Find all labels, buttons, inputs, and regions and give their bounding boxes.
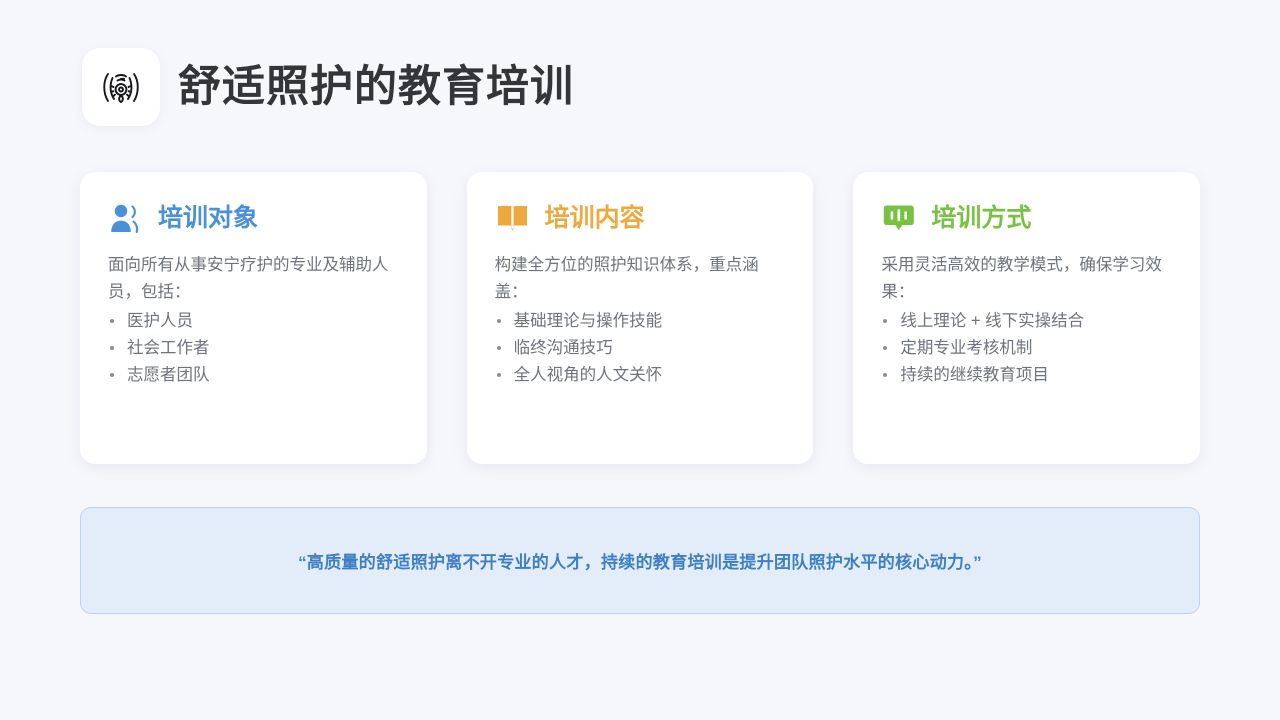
list-item: 持续的继续教育项目 <box>881 362 1172 389</box>
card-header: 培训内容 <box>495 202 786 234</box>
list-item: 定期专业考核机制 <box>881 335 1172 362</box>
quote-text: “高质量的舒适照护离不开专业的人才，持续的教育培训是提升团队照护水平的核心动力。… <box>258 548 1022 573</box>
list-item: 基础理论与操作技能 <box>495 308 786 335</box>
card-intro: 构建全方位的照护知识体系，重点涵盖： <box>495 252 786 305</box>
card-bullet-list: 线上理论 + 线下实操结合 定期专业考核机制 持续的继续教育项目 <box>881 308 1172 388</box>
card-intro: 面向所有从事安宁疗护的专业及辅助人员，包括： <box>108 252 399 305</box>
list-item: 社会工作者 <box>108 335 399 362</box>
list-item: 志愿者团队 <box>108 362 399 389</box>
chat-bubble-icon <box>881 202 917 234</box>
card-row: 培训对象 面向所有从事安宁疗护的专业及辅助人员，包括： 医护人员 社会工作者 志… <box>80 172 1200 464</box>
care-hands-logo-icon <box>95 61 147 113</box>
list-item: 全人视角的人文关怀 <box>495 362 786 389</box>
card-title: 培训内容 <box>545 206 645 231</box>
logo-badge <box>82 48 160 126</box>
card-title: 培训方式 <box>931 206 1031 231</box>
list-item: 医护人员 <box>108 308 399 335</box>
list-item: 临终沟通技巧 <box>495 335 786 362</box>
card-bullet-list: 基础理论与操作技能 临终沟通技巧 全人视角的人文关怀 <box>495 308 786 388</box>
card-intro: 采用灵活高效的教学模式，确保学习效果： <box>881 252 1172 305</box>
card-title: 培训对象 <box>158 206 258 231</box>
list-item: 线上理论 + 线下实操结合 <box>881 308 1172 335</box>
page-title: 舒适照护的教育培训 <box>178 66 574 109</box>
open-book-icon <box>495 202 531 234</box>
people-speaking-icon <box>108 202 144 234</box>
quote-banner: “高质量的舒适照护离不开专业的人才，持续的教育培训是提升团队照护水平的核心动力。… <box>80 507 1200 614</box>
card-training-content[interactable]: 培训内容 构建全方位的照护知识体系，重点涵盖： 基础理论与操作技能 临终沟通技巧… <box>467 172 814 464</box>
card-training-method[interactable]: 培训方式 采用灵活高效的教学模式，确保学习效果： 线上理论 + 线下实操结合 定… <box>853 172 1200 464</box>
card-training-audience[interactable]: 培训对象 面向所有从事安宁疗护的专业及辅助人员，包括： 医护人员 社会工作者 志… <box>80 172 427 464</box>
card-header: 培训对象 <box>108 202 399 234</box>
card-bullet-list: 医护人员 社会工作者 志愿者团队 <box>108 308 399 388</box>
page-header: 舒适照护的教育培训 <box>82 48 574 126</box>
card-header: 培训方式 <box>881 202 1172 234</box>
